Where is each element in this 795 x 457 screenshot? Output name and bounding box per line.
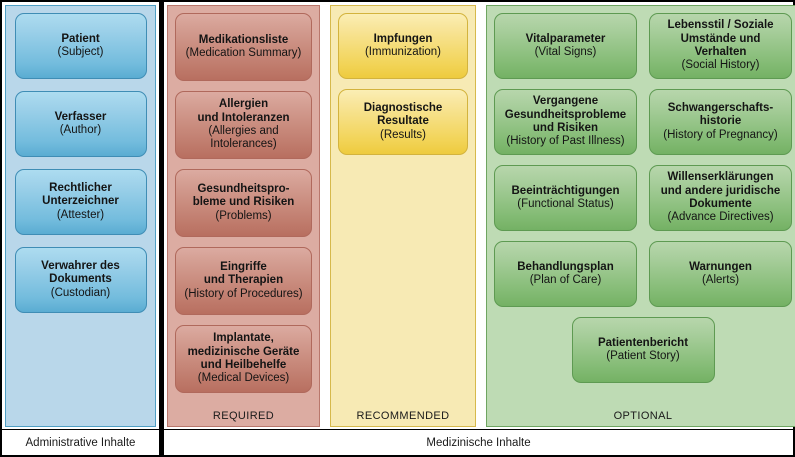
- node-label-en: (Results): [380, 129, 426, 142]
- node-label-en: (Vital Signs): [535, 46, 597, 59]
- node-label-en: (Author): [60, 124, 102, 137]
- node-label-de: Beeinträchtigungen: [512, 185, 620, 198]
- node-label-de: Medikationsliste: [199, 34, 288, 47]
- node-gesundheitsprobleme-und-risiken[interactable]: Gesundheitspro-bleme und Risiken (Proble…: [175, 169, 312, 237]
- diagram-main-area: Patient (Subject) Verfasser (Author) Rec…: [2, 2, 793, 430]
- node-label-de: Verfasser: [55, 111, 107, 124]
- node-verfasser[interactable]: Verfasser (Author): [15, 91, 147, 157]
- footer-medical-label: Medizinische Inhalte: [164, 430, 793, 455]
- footer-administrative-label: Administrative Inhalte: [2, 430, 159, 455]
- node-label-de: Verwahrer desDokuments: [41, 260, 120, 287]
- node-beeintraechtigungen[interactable]: Beeinträchtigungen (Functional Status): [494, 165, 637, 231]
- node-label-de: Behandlungsplan: [517, 261, 613, 274]
- node-schwangerschaftshistorie[interactable]: Schwangerschafts-historie (History of Pr…: [649, 89, 792, 155]
- node-medikationsliste[interactable]: Medikationsliste (Medication Summary): [175, 13, 312, 81]
- node-verwahrer-des-dokuments[interactable]: Verwahrer desDokuments (Custodian): [15, 247, 147, 313]
- node-label-en: (Medical Devices): [198, 372, 289, 385]
- node-warnungen[interactable]: Warnungen (Alerts): [649, 241, 792, 307]
- node-implantate-medizinische-geraete[interactable]: Implantate,medizinische Geräteund Heilbe…: [175, 325, 312, 393]
- node-label-de: Implantate,medizinische Geräteund Heilbe…: [188, 332, 300, 372]
- optional-panel: Vitalparameter (Vital Signs) Lebensstil …: [486, 5, 795, 427]
- node-label-de: Willenserklärungenund andere juridischeD…: [661, 171, 781, 211]
- required-panel-label: REQUIRED: [168, 410, 319, 422]
- administrative-box-stack: Patient (Subject) Verfasser (Author) Rec…: [13, 13, 148, 325]
- node-behandlungsplan[interactable]: Behandlungsplan (Plan of Care): [494, 241, 637, 307]
- node-label-de: DiagnostischeResultate: [364, 102, 443, 129]
- node-label-de: Warnungen: [689, 261, 752, 274]
- node-label-de: Allergienund Intoleranzen: [198, 98, 290, 125]
- recommended-panel-label: RECOMMENDED: [331, 410, 475, 422]
- node-label-en: (Alerts): [702, 274, 739, 287]
- footer-bar: Administrative Inhalte Medizinische Inha…: [2, 429, 793, 455]
- node-label-en: (Attester): [57, 209, 104, 222]
- medical-section: Medikationsliste (Medication Summary) Al…: [164, 2, 795, 430]
- node-label-en: (Medication Summary): [186, 47, 302, 60]
- node-label-de: Eingriffeund Therapien: [204, 261, 283, 288]
- node-impfungen[interactable]: Impfungen (Immunization): [338, 13, 468, 79]
- recommended-panel: Impfungen (Immunization) DiagnostischeRe…: [330, 5, 476, 427]
- node-label-en: (Problems): [215, 210, 271, 223]
- node-vitalparameter[interactable]: Vitalparameter (Vital Signs): [494, 13, 637, 79]
- node-rechtlicher-unterzeichner[interactable]: RechtlicherUnterzeichner (Attester): [15, 169, 147, 235]
- node-label-en: (History of Past Illness): [506, 135, 624, 148]
- node-label-en: (History of Procedures): [184, 288, 302, 301]
- node-label-en: (Patient Story): [606, 350, 680, 363]
- node-patientenbericht[interactable]: Patientenbericht (Patient Story): [572, 317, 715, 383]
- node-eingriffe-und-therapien[interactable]: Eingriffeund Therapien (History of Proce…: [175, 247, 312, 315]
- node-label-en: (Subject): [57, 46, 103, 59]
- node-diagnostische-resultate[interactable]: DiagnostischeResultate (Results): [338, 89, 468, 155]
- node-label-en: (Advance Directives): [667, 211, 773, 224]
- required-box-stack: Medikationsliste (Medication Summary) Al…: [175, 13, 312, 393]
- recommended-box-stack: Impfungen (Immunization) DiagnostischeRe…: [338, 13, 468, 165]
- node-label-de: Patient: [61, 33, 99, 46]
- node-vergangene-gesundheitsprobleme[interactable]: VergangeneGesundheitsproblemeund Risiken…: [494, 89, 637, 155]
- optional-box-grid: Vitalparameter (Vital Signs) Lebensstil …: [494, 13, 792, 383]
- node-label-de: Schwangerschafts-historie: [668, 102, 773, 129]
- administrative-section: Patient (Subject) Verfasser (Author) Rec…: [2, 2, 159, 430]
- node-patient[interactable]: Patient (Subject): [15, 13, 147, 79]
- node-label-en: (Allergies andIntolerances): [208, 125, 278, 152]
- node-label-de: Lebensstil / SozialeUmstände undVerhalte…: [667, 19, 773, 59]
- required-panel: Medikationsliste (Medication Summary) Al…: [167, 5, 320, 427]
- node-label-de: Impfungen: [374, 33, 433, 46]
- node-label-en: (Social History): [682, 59, 760, 72]
- node-label-de: Vitalparameter: [526, 33, 606, 46]
- node-allergien-und-intoleranzen[interactable]: Allergienund Intoleranzen (Allergies and…: [175, 91, 312, 159]
- node-label-de: VergangeneGesundheitsproblemeund Risiken: [505, 95, 626, 135]
- node-willenserklaerungen[interactable]: Willenserklärungenund andere juridischeD…: [649, 165, 792, 231]
- optional-panel-label: OPTIONAL: [487, 410, 795, 422]
- node-label-en: (Custodian): [51, 287, 110, 300]
- node-lebensstil-soziale-umstaende[interactable]: Lebensstil / SozialeUmstände undVerhalte…: [649, 13, 792, 79]
- node-label-de: Gesundheitspro-bleme und Risiken: [193, 183, 295, 210]
- node-label-de: RechtlicherUnterzeichner: [42, 182, 119, 209]
- administrative-panel: Patient (Subject) Verfasser (Author) Rec…: [5, 5, 156, 427]
- diagram-root: Patient (Subject) Verfasser (Author) Rec…: [0, 0, 795, 457]
- node-label-en: (Immunization): [365, 46, 441, 59]
- node-label-en: (History of Pregnancy): [663, 129, 777, 142]
- node-label-de: Patientenbericht: [598, 337, 688, 350]
- node-label-en: (Functional Status): [517, 198, 614, 211]
- node-label-en: (Plan of Care): [530, 274, 602, 287]
